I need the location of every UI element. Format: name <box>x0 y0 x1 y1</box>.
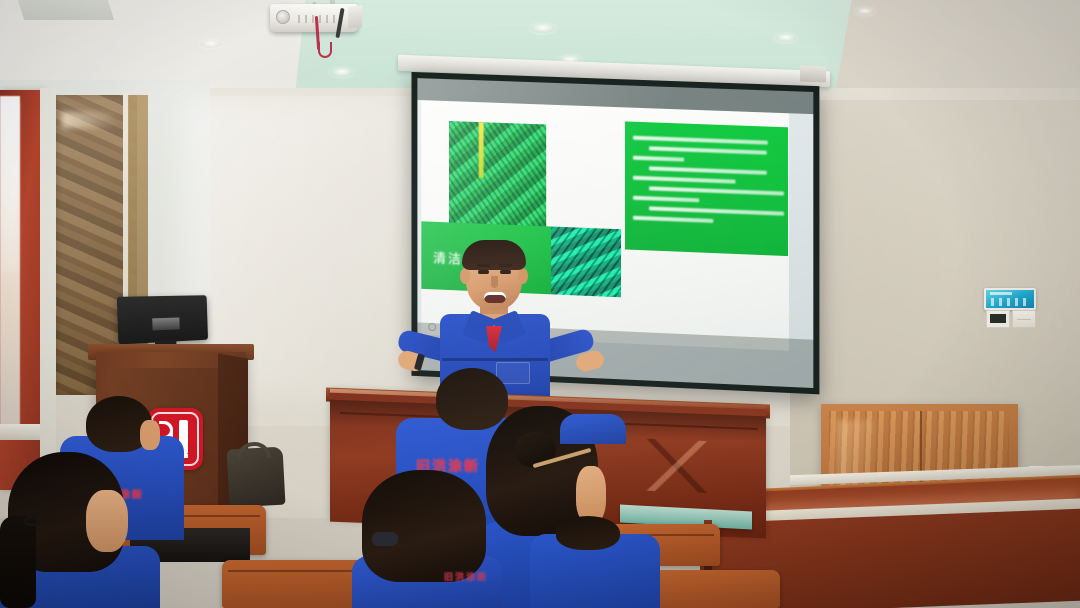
conference-room-photo: 清洁生产措施 <box>0 0 1080 608</box>
attendee-face-profile <box>140 420 160 450</box>
recessed-downlight <box>200 40 222 48</box>
projector-side <box>348 5 362 29</box>
attendee-ponytail <box>0 516 36 608</box>
ac-control-panel[interactable] <box>984 288 1036 310</box>
wall-switch[interactable] <box>1012 310 1036 328</box>
ac-panel-readout <box>991 298 1030 306</box>
ac-panel-header <box>990 292 1012 295</box>
recessed-downlight <box>530 24 556 33</box>
attendee-far-right <box>530 516 660 608</box>
attendee-face-profile <box>86 490 128 552</box>
attendee-uniform-text: 旧洪涂新 <box>444 570 488 583</box>
slide-body-line <box>649 166 767 174</box>
hair-tie <box>24 516 40 526</box>
presenter-eye-left <box>478 270 489 274</box>
thermostat-screen <box>990 314 1006 323</box>
attendee-right-long-hair: 旧洪涂新 <box>352 470 502 608</box>
recessed-downlight <box>330 68 354 77</box>
presenter-ear-right <box>518 268 528 284</box>
air-vent <box>16 0 114 20</box>
column-highlight <box>62 112 116 128</box>
presenter-eyebrow-right <box>499 264 512 267</box>
window-daylight-glare <box>2 102 18 272</box>
slide-body-line <box>633 196 699 203</box>
presenter-eye-right <box>500 270 511 274</box>
thermostat-display[interactable] <box>986 310 1010 328</box>
projector-controls[interactable] <box>298 15 342 23</box>
screen-roller-cap <box>800 66 826 83</box>
presenter-nose <box>491 276 498 288</box>
desktop-monitor[interactable] <box>117 295 208 344</box>
recessed-downlight <box>855 8 875 15</box>
backpack <box>227 447 286 508</box>
slide-body-line <box>649 206 784 215</box>
presenter-mouth <box>484 292 506 303</box>
attendee-foreground-ponytail <box>0 452 170 608</box>
attendee-hair <box>362 470 486 582</box>
sugarcane-stalk-highlight <box>479 122 484 178</box>
presenter-uniform-stripe <box>442 358 548 361</box>
desk-decorative-panel <box>600 437 760 495</box>
wall-switch-line <box>1017 319 1031 320</box>
slide-body-line <box>633 156 684 162</box>
slide-body-line <box>633 136 768 145</box>
presenter-ear-left <box>460 268 470 284</box>
attendee-uniform <box>560 414 626 444</box>
window-side-wall <box>40 88 56 508</box>
presenter-hair <box>462 240 526 270</box>
projector-lens-icon <box>276 10 290 24</box>
slide-body-line <box>633 216 714 223</box>
attendee-hair <box>556 516 620 550</box>
projector-cable-loop <box>318 42 332 58</box>
attendee-back-row <box>560 404 626 442</box>
desk-zigzag-inlay <box>600 437 760 495</box>
hair-clip <box>372 532 398 546</box>
slide-body-line <box>649 146 767 154</box>
presenter-eyebrow-left <box>477 264 490 267</box>
slide-body-line <box>649 186 784 195</box>
slide-body-line <box>633 176 736 184</box>
recessed-downlight <box>775 34 797 42</box>
monitor-brand-badge <box>152 317 180 330</box>
slide-body-block <box>625 121 788 256</box>
